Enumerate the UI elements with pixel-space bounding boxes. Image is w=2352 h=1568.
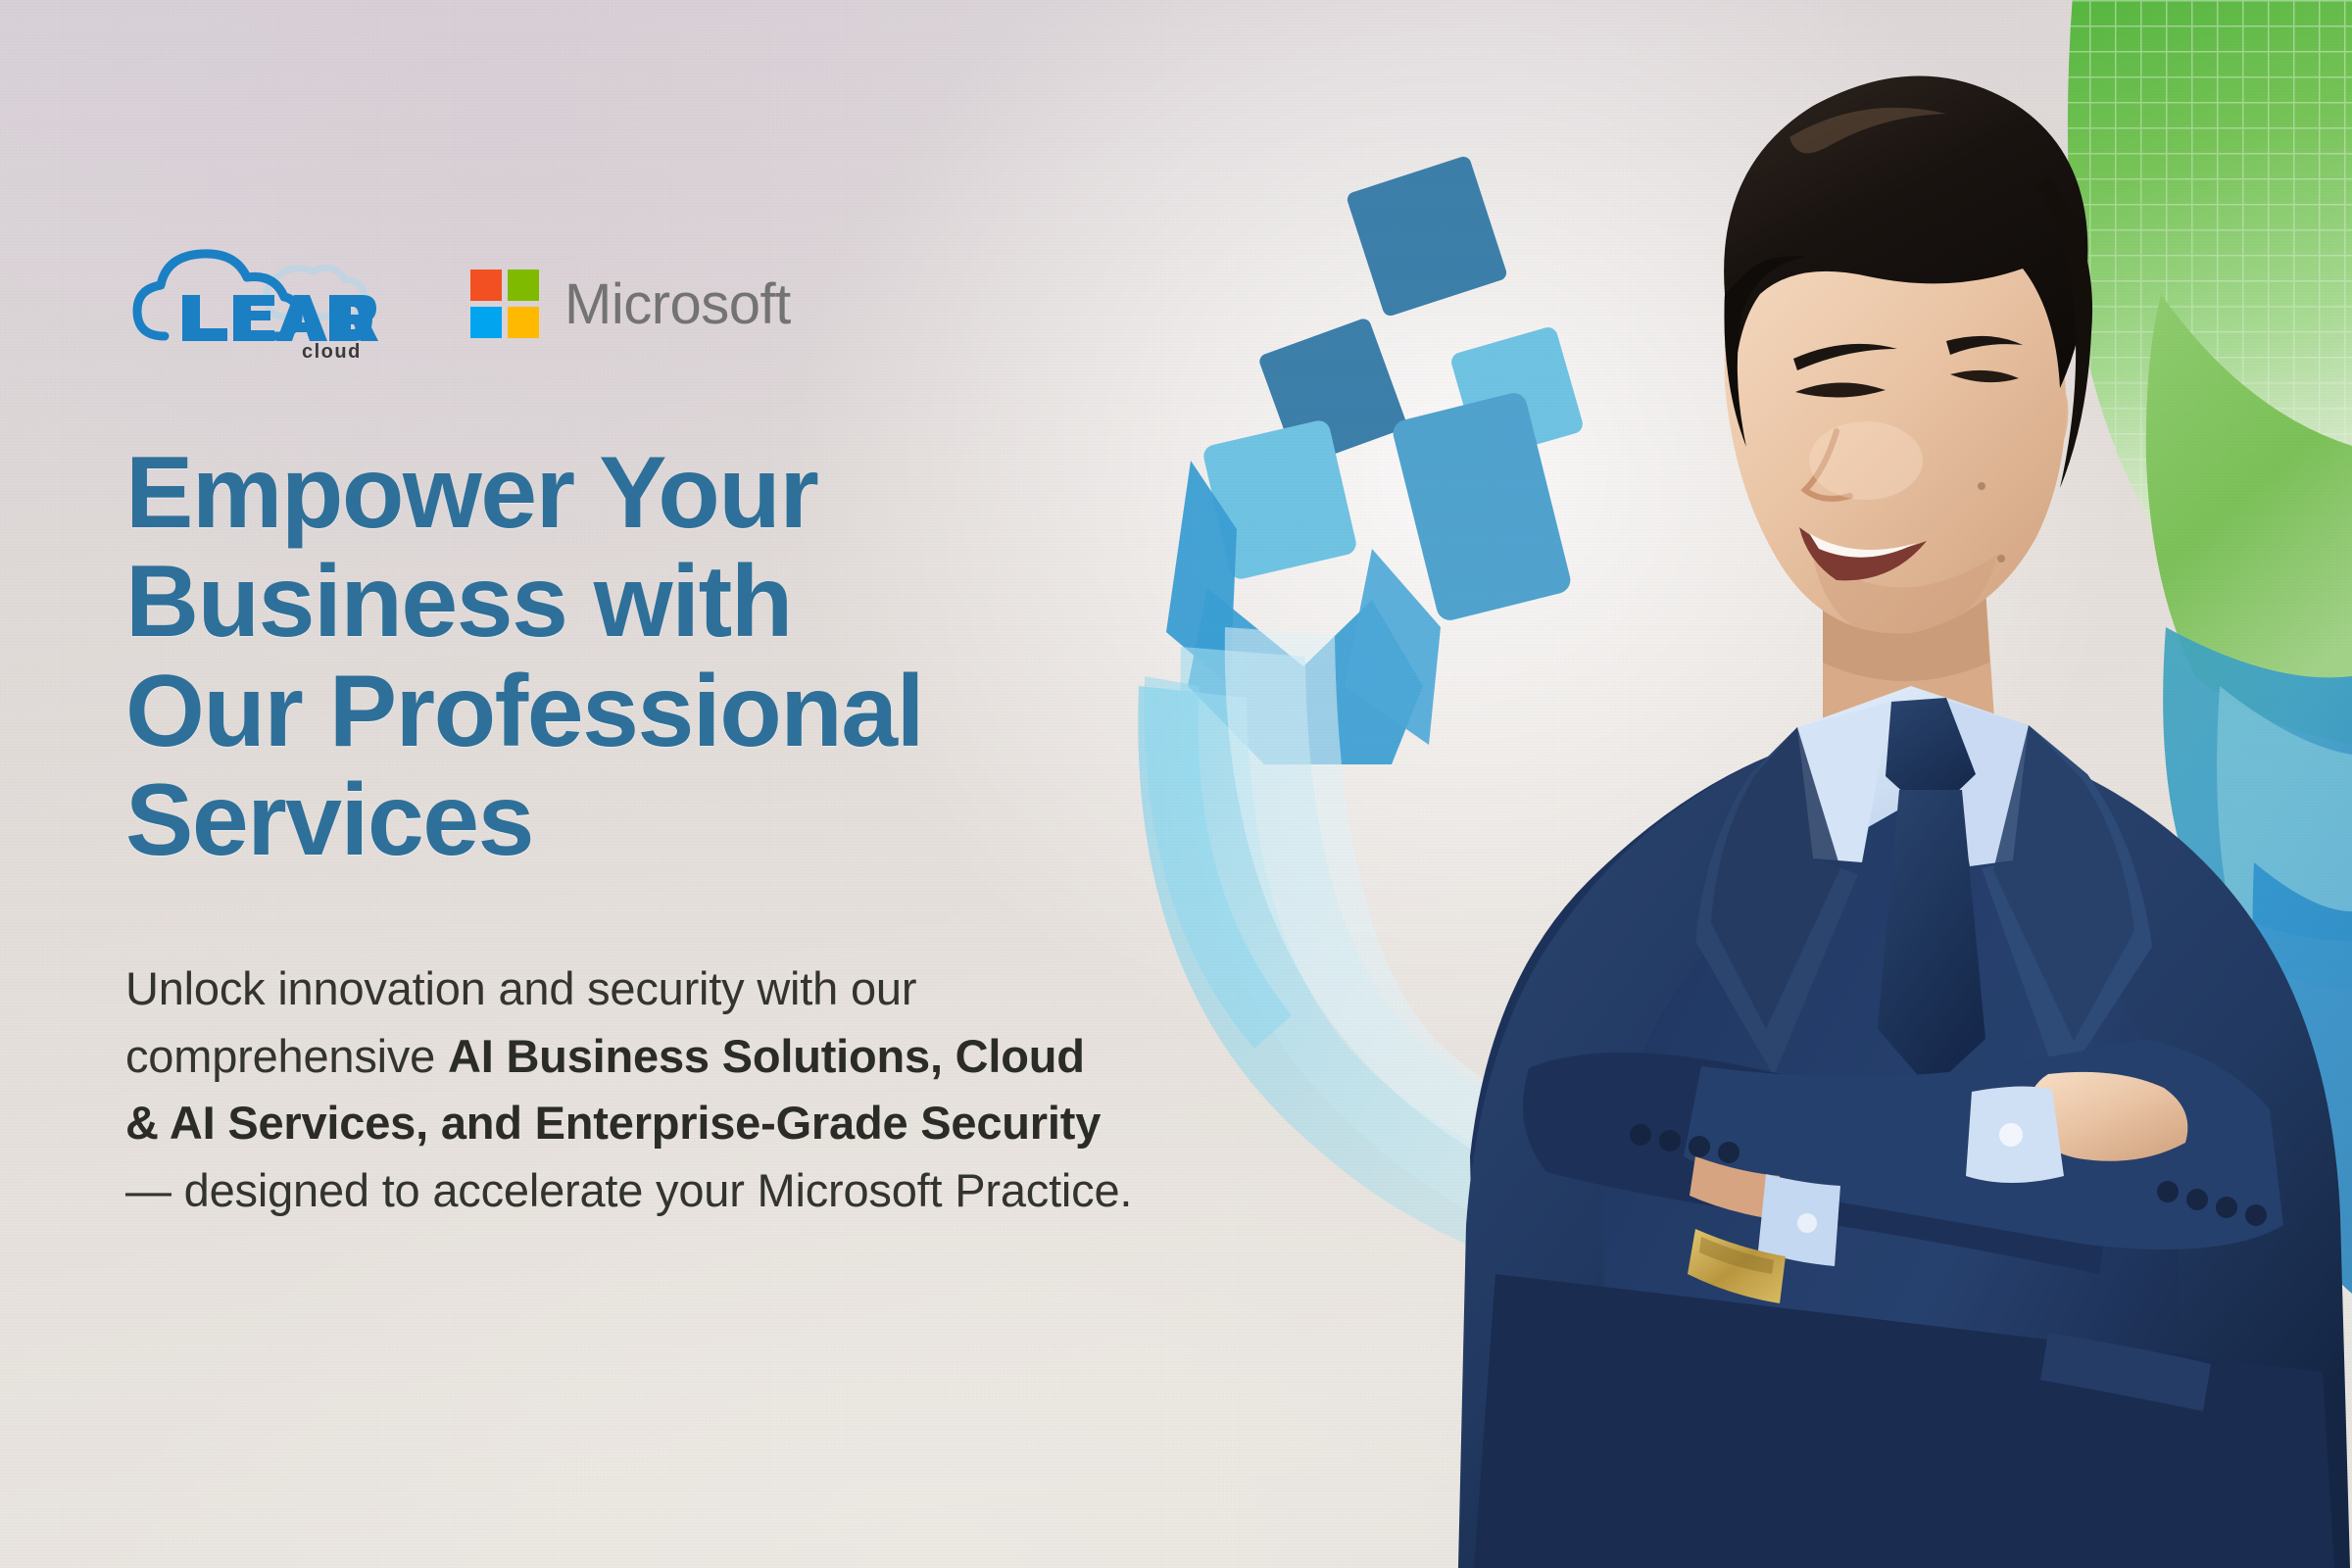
headline-line-1: Empower Your — [125, 439, 1282, 548]
page-subcopy: Unlock innovation and security with our … — [125, 955, 1262, 1224]
microsoft-logo[interactable]: Microsoft — [470, 269, 791, 338]
businessman-portrait — [1401, 0, 2352, 1568]
subcopy-line-4: — designed to accelerate your Microsoft … — [125, 1157, 1262, 1225]
subcopy-line-3: & AI Services, and Enterprise-Grade Secu… — [125, 1090, 1262, 1157]
cloud-icon — [137, 254, 298, 336]
ms-yellow-square — [508, 307, 539, 338]
page-headline: Empower Your Business with Our Professio… — [125, 439, 1282, 875]
microsoft-wordmark: Microsoft — [564, 271, 791, 337]
headline-line-3: Our Professional — [125, 658, 1282, 766]
ms-blue-square — [470, 307, 502, 338]
leader-logo-subtext: cloud — [302, 341, 362, 362]
content-column: cloud Microsoft Empower Your Business wi… — [125, 245, 1282, 1225]
logo-row: cloud Microsoft — [125, 245, 1282, 363]
subcopy-line-1: Unlock innovation and security with our — [125, 955, 1262, 1023]
headline-line-4: Services — [125, 766, 1282, 875]
ms-red-square — [470, 269, 502, 301]
microsoft-squares-icon — [470, 269, 539, 338]
subcopy-line-2: comprehensive AI Business Solutions, Clo… — [125, 1023, 1262, 1091]
marketing-banner: cloud Microsoft Empower Your Business wi… — [0, 0, 2352, 1568]
head — [1724, 75, 2092, 639]
headline-line-2: Business with — [125, 548, 1282, 657]
leader-cloud-logo[interactable]: cloud — [125, 246, 388, 362]
ms-green-square — [508, 269, 539, 301]
